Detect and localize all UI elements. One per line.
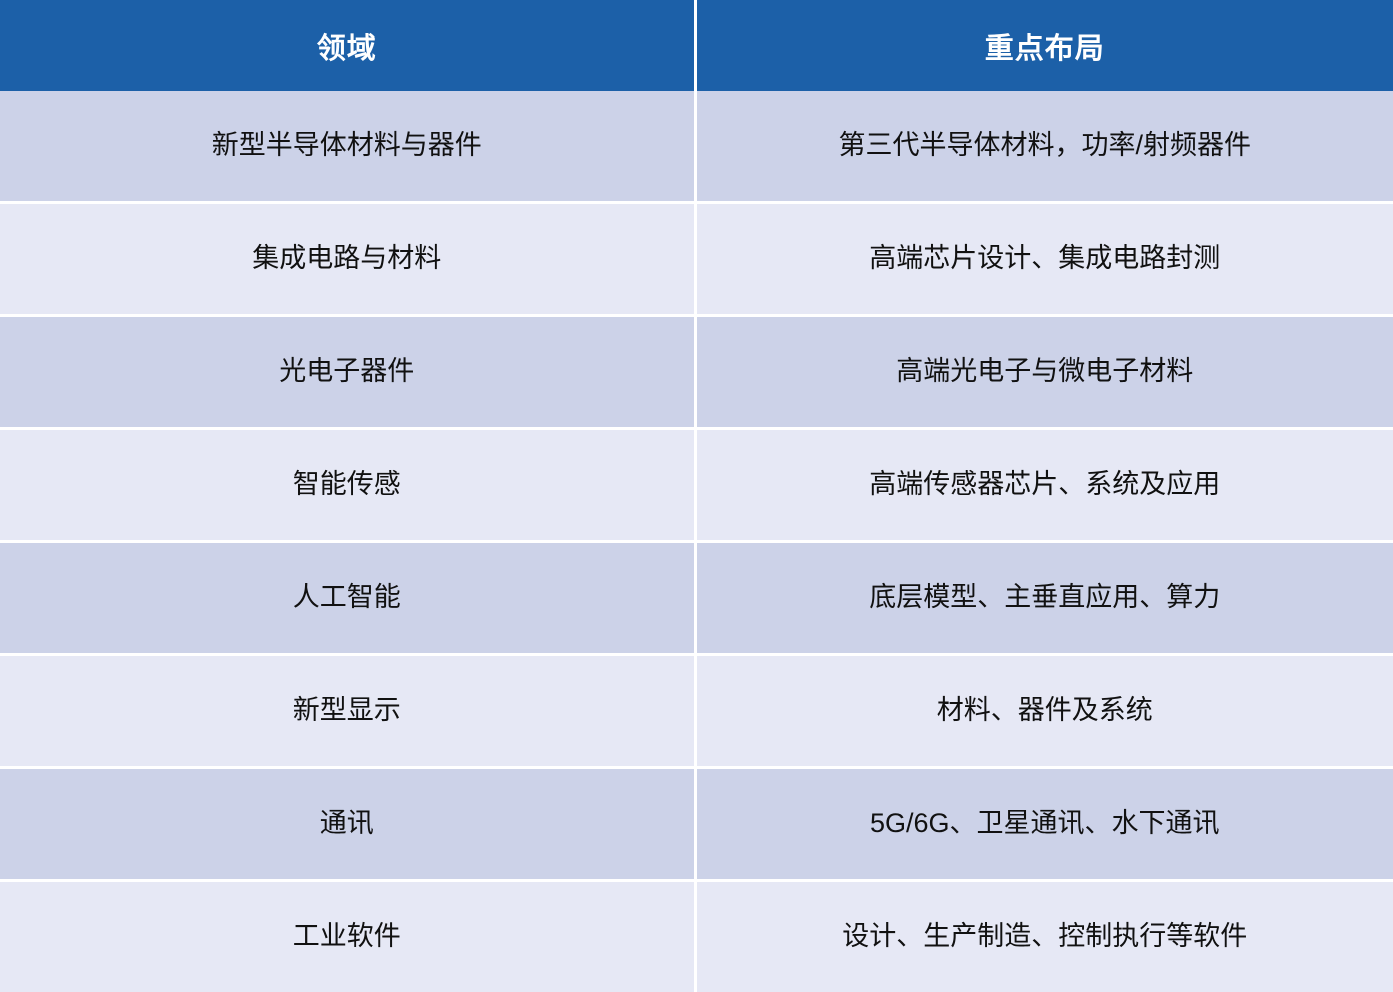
cell-focus: 高端光电子与微电子材料: [695, 316, 1393, 429]
table-container: 领域 重点布局 新型半导体材料与器件 第三代半导体材料，功率/射频器件 集成电路…: [0, 0, 1393, 972]
table-body: 新型半导体材料与器件 第三代半导体材料，功率/射频器件 集成电路与材料 高端芯片…: [0, 91, 1393, 992]
table-row: 通讯 5G/6G、卫星通讯、水下通讯: [0, 768, 1393, 881]
column-header-focus: 重点布局: [695, 0, 1393, 91]
header-row: 领域 重点布局: [0, 0, 1393, 91]
layout-focus-table: 领域 重点布局 新型半导体材料与器件 第三代半导体材料，功率/射频器件 集成电路…: [0, 0, 1393, 992]
cell-domain: 光电子器件: [0, 316, 695, 429]
table-row: 光电子器件 高端光电子与微电子材料: [0, 316, 1393, 429]
table-row: 人工智能 底层模型、主垂直应用、算力: [0, 542, 1393, 655]
table-row: 集成电路与材料 高端芯片设计、集成电路封测: [0, 203, 1393, 316]
table-row: 工业软件 设计、生产制造、控制执行等软件: [0, 881, 1393, 992]
cell-focus: 第三代半导体材料，功率/射频器件: [695, 91, 1393, 203]
cell-domain: 新型显示: [0, 655, 695, 768]
cell-domain: 通讯: [0, 768, 695, 881]
table-row: 智能传感 高端传感器芯片、系统及应用: [0, 429, 1393, 542]
cell-domain: 新型半导体材料与器件: [0, 91, 695, 203]
cell-focus: 高端传感器芯片、系统及应用: [695, 429, 1393, 542]
table-header: 领域 重点布局: [0, 0, 1393, 91]
column-header-domain: 领域: [0, 0, 695, 91]
cell-domain: 智能传感: [0, 429, 695, 542]
cell-domain: 集成电路与材料: [0, 203, 695, 316]
cell-domain: 人工智能: [0, 542, 695, 655]
table-row: 新型显示 材料、器件及系统: [0, 655, 1393, 768]
cell-focus: 5G/6G、卫星通讯、水下通讯: [695, 768, 1393, 881]
cell-focus: 高端芯片设计、集成电路封测: [695, 203, 1393, 316]
cell-focus: 底层模型、主垂直应用、算力: [695, 542, 1393, 655]
cell-focus: 设计、生产制造、控制执行等软件: [695, 881, 1393, 992]
table-row: 新型半导体材料与器件 第三代半导体材料，功率/射频器件: [0, 91, 1393, 203]
cell-domain: 工业软件: [0, 881, 695, 992]
cell-focus: 材料、器件及系统: [695, 655, 1393, 768]
